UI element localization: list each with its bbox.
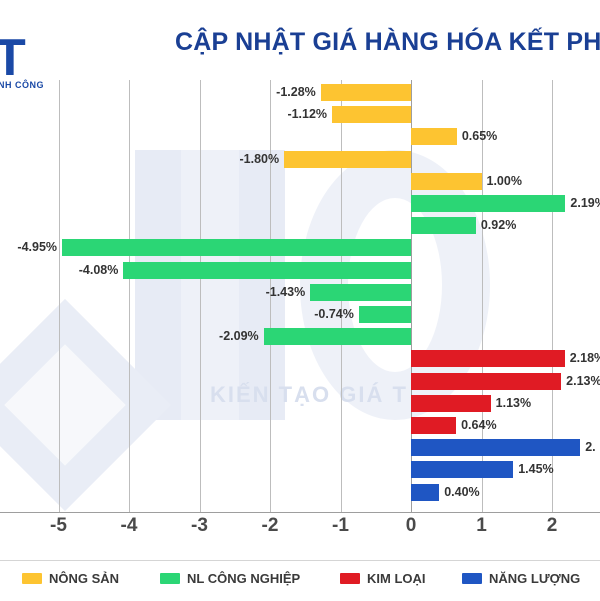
bar[interactable] xyxy=(332,106,411,123)
brand-logo: T THÀNH CÔNG xyxy=(0,18,70,74)
bar[interactable] xyxy=(411,461,513,478)
bar[interactable] xyxy=(411,395,491,412)
x-tick-label: -4 xyxy=(121,515,138,537)
bar-value-label: -1.28% xyxy=(276,84,316,101)
legend-label: KIM LOẠI xyxy=(367,571,426,586)
bar[interactable] xyxy=(411,217,476,234)
legend-item[interactable]: KIM LOẠI xyxy=(340,571,426,586)
x-tick-label: -1 xyxy=(332,515,349,537)
bar[interactable] xyxy=(284,151,411,168)
bar-value-label: -4.95% xyxy=(17,239,57,256)
bar[interactable] xyxy=(310,284,411,301)
page-title: CẬP NHẬT GIÁ HÀNG HÓA KẾT PHIÊ xyxy=(175,28,600,57)
bar-value-label: -1.43% xyxy=(266,284,306,301)
bar-value-label: 1.13% xyxy=(496,395,531,412)
bar[interactable] xyxy=(264,328,411,345)
legend-item[interactable]: NĂNG LƯỢNG xyxy=(462,571,580,586)
chart-plot-area: -1.28%-1.12%0.65%-1.80%1.00%2.19%0.92%-4… xyxy=(0,80,600,512)
bar[interactable] xyxy=(62,239,411,256)
bar-value-label: -2.09% xyxy=(219,328,259,345)
x-tick-label: -2 xyxy=(262,515,279,537)
bar-value-label: -0.74% xyxy=(314,306,354,323)
bar-value-label: 0.65% xyxy=(462,128,497,145)
legend-label: NĂNG LƯỢNG xyxy=(489,571,580,586)
bar[interactable] xyxy=(411,417,456,434)
bar[interactable] xyxy=(411,439,580,456)
x-tick-label: 2 xyxy=(547,515,558,537)
x-axis-line xyxy=(0,512,600,513)
bar[interactable] xyxy=(411,128,457,145)
legend-label: NÔNG SẢN xyxy=(49,571,119,586)
x-tick-label: -5 xyxy=(50,515,67,537)
x-tick-label: -3 xyxy=(191,515,208,537)
legend-label: NL CÔNG NGHIỆP xyxy=(187,571,300,586)
bar[interactable] xyxy=(321,84,411,101)
bar[interactable] xyxy=(411,173,482,190)
bar[interactable] xyxy=(359,306,411,323)
gridline-neg5 xyxy=(59,80,60,512)
chart-legend: NÔNG SẢNNL CÔNG NGHIỆPKIM LOẠINĂNG LƯỢNG xyxy=(0,560,600,601)
bar[interactable] xyxy=(411,373,561,390)
bar[interactable] xyxy=(123,262,411,279)
legend-item[interactable]: NL CÔNG NGHIỆP xyxy=(160,571,300,586)
legend-swatch xyxy=(22,573,42,584)
bar-value-label: 1.45% xyxy=(518,461,553,478)
bar-value-label: -4.08% xyxy=(79,262,119,279)
bar-value-label: 2.19% xyxy=(570,195,600,212)
x-tick-label: 0 xyxy=(406,515,417,537)
bar-value-label: -1.80% xyxy=(240,151,280,168)
legend-item[interactable]: NÔNG SẢN xyxy=(22,571,119,586)
bar-value-label: 1.00% xyxy=(487,173,522,190)
bar-value-label: -1.12% xyxy=(287,106,327,123)
x-tick-label: 1 xyxy=(476,515,487,537)
legend-swatch xyxy=(462,573,482,584)
bar-value-label: 2.18% xyxy=(570,350,600,367)
bar-value-label: 2.13% xyxy=(566,373,600,390)
bar-value-label: 0.40% xyxy=(444,484,479,501)
bar-value-label: 0.64% xyxy=(461,417,496,434)
bar-value-label: 0.92% xyxy=(481,217,516,234)
legend-swatch xyxy=(160,573,180,584)
bar[interactable] xyxy=(411,350,565,367)
legend-swatch xyxy=(340,573,360,584)
logo-letter: T xyxy=(0,32,24,84)
gridline-neg3 xyxy=(200,80,201,512)
gridline-neg4 xyxy=(129,80,130,512)
bar-value-label: 2. xyxy=(585,439,595,456)
bar[interactable] xyxy=(411,484,439,501)
bar[interactable] xyxy=(411,195,565,212)
